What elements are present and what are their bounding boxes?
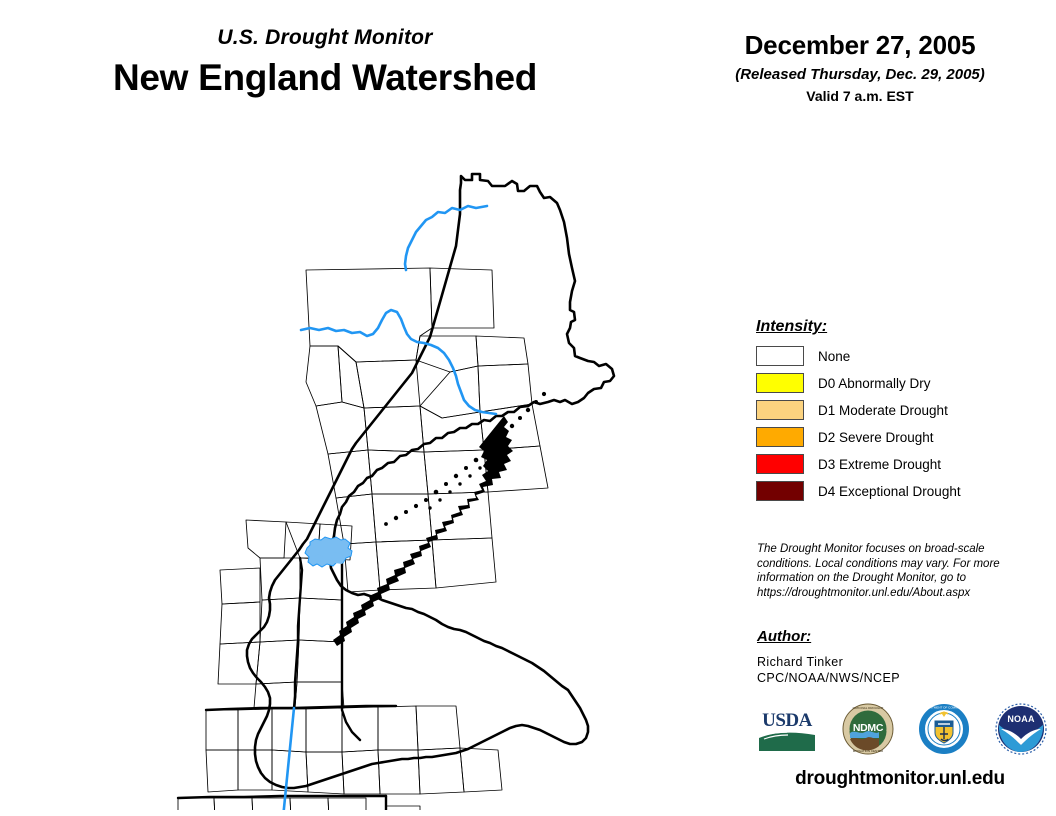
map-svg (120, 150, 640, 810)
legend-item-d2[interactable]: D2 Severe Drought (756, 427, 1036, 447)
valid-date: December 27, 2005 (700, 30, 1020, 61)
legend-label-d3: D3 Extreme Drought (818, 457, 941, 472)
author-affiliation: CPC/NOAA/NWS/NCEP (757, 670, 1037, 686)
legend-item-d1[interactable]: D1 Moderate Drought (756, 400, 1036, 420)
legend-swatch-d4 (756, 481, 804, 501)
site-url[interactable]: droughtmonitor.unl.edu (740, 768, 1056, 790)
state-outline-path (247, 174, 614, 788)
legend-item-d3[interactable]: D3 Extreme Drought (756, 454, 1036, 474)
lake-winnipesaukee (305, 537, 352, 567)
legend-swatch-none (756, 346, 804, 366)
svg-text:USDA: USDA (762, 710, 813, 731)
header-date-block: December 27, 2005 (Released Thursday, De… (700, 30, 1020, 104)
logo-row: USDA NDMC NATIONAL DROUGHT MITIGATION CE… (757, 703, 1047, 759)
legend-heading: Intensity: (756, 318, 1036, 336)
page-title: New England Watershed (0, 57, 650, 99)
legend-panel: Intensity: None D0 Abnormally Dry D1 Mod… (756, 318, 1036, 508)
legend-label-d0: D0 Abnormally Dry (818, 376, 931, 391)
drought-map[interactable] (120, 150, 640, 810)
ndmc-logo[interactable]: NDMC NATIONAL DROUGHT MITIGATION CENTER (842, 703, 894, 760)
ri-west-border (386, 796, 387, 810)
map-landmass (247, 174, 614, 788)
svg-text:NDMC: NDMC (853, 722, 884, 734)
legend-swatch-d3 (756, 454, 804, 474)
author-heading: Author: (757, 628, 1037, 645)
legend-swatch-d1 (756, 400, 804, 420)
svg-text:NOAA: NOAA (1007, 714, 1035, 724)
author-panel: Author: Richard Tinker CPC/NOAA/NWS/NCEP (757, 628, 1037, 686)
header-title-block: U.S. Drought Monitor New England Watersh… (0, 26, 650, 99)
svg-text:NATIONAL DROUGHT: NATIONAL DROUGHT (852, 706, 883, 710)
legend-item-none[interactable]: None (756, 346, 1036, 366)
svg-text:DEPARTMENT OF COMMERCE: DEPARTMENT OF COMMERCE (922, 705, 966, 709)
noaa-logo[interactable]: NOAA (995, 703, 1047, 760)
usda-logo[interactable]: USDA (757, 705, 817, 758)
disclaimer-text: The Drought Monitor focuses on broad-sca… (757, 542, 1015, 600)
page-subtitle: U.S. Drought Monitor (0, 26, 650, 50)
legend-label-d1: D1 Moderate Drought (818, 403, 948, 418)
release-date: (Released Thursday, Dec. 29, 2005) (700, 66, 1020, 83)
legend-swatch-d2 (756, 427, 804, 447)
svg-text:MITIGATION CENTER: MITIGATION CENTER (852, 749, 883, 753)
legend-label-d2: D2 Severe Drought (818, 430, 934, 445)
legend-item-d4[interactable]: D4 Exceptional Drought (756, 481, 1036, 501)
legend-item-d0[interactable]: D0 Abnormally Dry (756, 373, 1036, 393)
legend-label-none: None (818, 349, 850, 364)
author-name: Richard Tinker (757, 654, 1037, 670)
valid-time: Valid 7 a.m. EST (700, 88, 1020, 104)
legend-swatch-d0 (756, 373, 804, 393)
legend-label-d4: D4 Exceptional Drought (818, 484, 961, 499)
commerce-seal[interactable]: DEPARTMENT OF COMMERCE (918, 703, 970, 760)
